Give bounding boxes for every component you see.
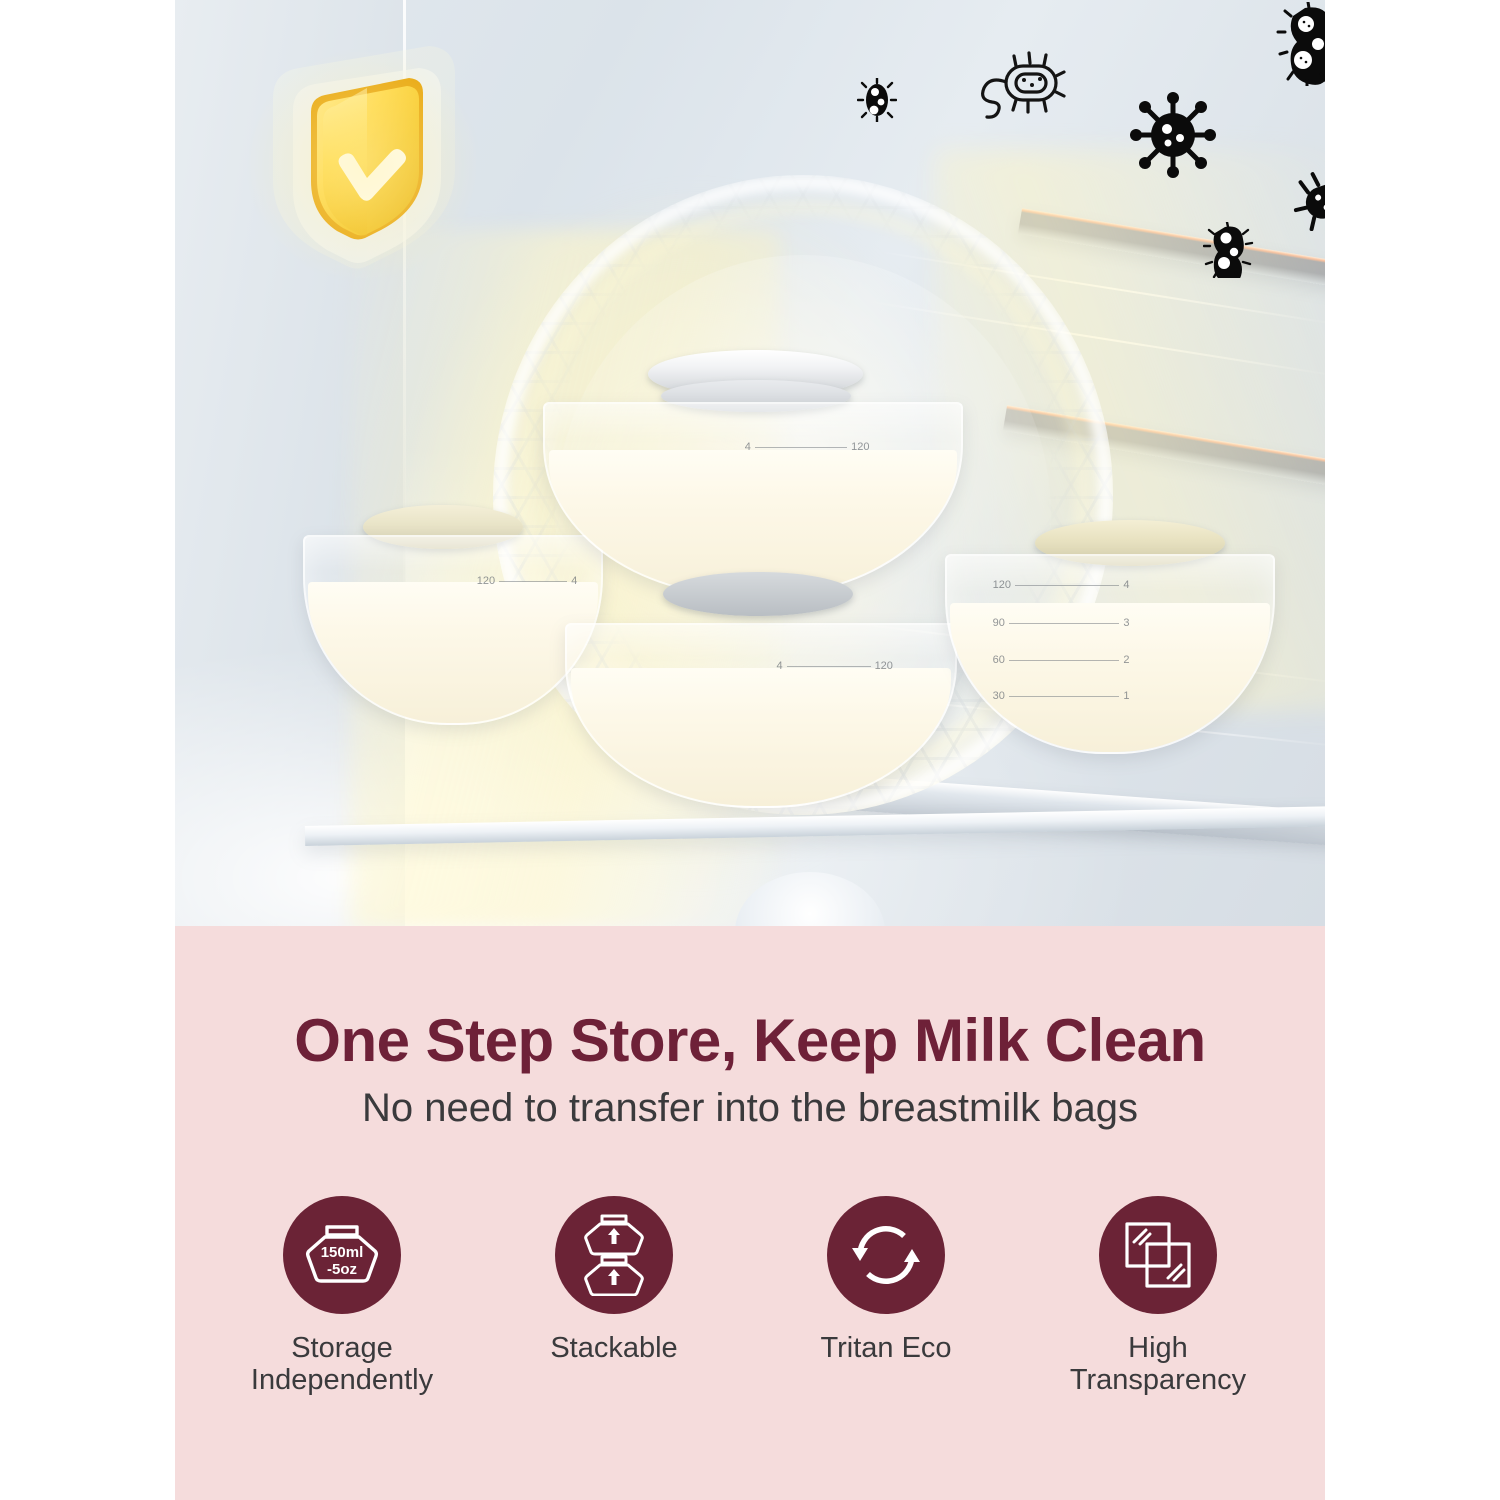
scale-oz-4: 4 [1123, 580, 1129, 591]
hero-fridge-scene: 120 4 4 120 [175, 0, 1325, 926]
germ-bacillus-spiky [1293, 165, 1325, 231]
scale-ml-60: 60 [993, 655, 1005, 666]
page-subtitle: No need to transfer into the breastmilk … [175, 1086, 1325, 1131]
recycle-arrows-icon [848, 1217, 924, 1293]
content-column: 120 4 4 120 [175, 0, 1325, 1500]
measurement-scale: 4 120 [777, 654, 893, 766]
scale-oz-1: 1 [1123, 691, 1129, 702]
container-right: 120 4 90 3 60 2 [945, 520, 1275, 785]
feature-tritan-eco: Tritan Eco [761, 1196, 1011, 1364]
feature-label: High Transparency [1070, 1332, 1246, 1397]
container-base-ring [663, 572, 853, 616]
feature-label: Storage Independently [251, 1332, 433, 1397]
scale-ml-120: 120 [993, 580, 1011, 591]
scale-ml-120: 120 [875, 661, 893, 672]
feature-storage-independently: 150ml -5oz Storage Independently [217, 1196, 467, 1397]
scale-oz-4: 4 [777, 661, 783, 672]
product-marketing-image: 120 4 4 120 [0, 0, 1500, 1500]
feature-high-transparency: High Transparency [1033, 1196, 1283, 1397]
feature-icon-circle [1099, 1196, 1217, 1314]
container-volume-icon: 150ml -5oz [303, 1218, 381, 1292]
container-bowl: 120 4 90 3 60 2 [945, 554, 1275, 754]
scale-ml-120: 120 [851, 442, 869, 453]
scale-oz-3: 3 [1123, 618, 1129, 629]
transparent-panes-icon [1121, 1218, 1195, 1292]
feature-label: Stackable [550, 1332, 677, 1364]
germ-amoeba [1275, 2, 1325, 86]
feature-stackable: Stackable [489, 1196, 739, 1364]
scale-oz-2: 2 [1123, 655, 1129, 666]
shield-check-badge [233, 38, 493, 303]
shield-glow [233, 38, 493, 303]
feature-list: 150ml -5oz Storage Independently [217, 1196, 1283, 1397]
scale-ml-30: 30 [993, 691, 1005, 702]
icon-volume-ml: 150ml [321, 1244, 364, 1261]
page-title: One Step Store, Keep Milk Clean [175, 1006, 1325, 1075]
germ-bacillus-flagellum [970, 48, 1066, 128]
stackable-containers-icon [578, 1214, 650, 1296]
feature-icon-circle: 150ml -5oz [283, 1196, 401, 1314]
germ-amoeba-small [857, 78, 897, 122]
scale-ml-90: 90 [993, 618, 1005, 629]
scale-oz-4: 4 [745, 442, 751, 453]
container-top-center: 4 120 [543, 350, 963, 640]
germ-virus-spiky [1130, 92, 1216, 178]
feature-label: Tritan Eco [820, 1332, 951, 1364]
milk-fill [571, 668, 951, 806]
feature-icon-circle [555, 1196, 673, 1314]
germ-amoeba-small [1203, 222, 1255, 278]
measurement-scale: 4 120 [745, 435, 870, 553]
container-bowl: 4 120 [543, 402, 963, 597]
container-bowl: 4 120 [565, 623, 957, 808]
scale-ml-120: 120 [477, 576, 495, 587]
pink-info-panel: One Step Store, Keep Milk Clean No need … [175, 926, 1325, 1500]
measurement-scale: 120 4 90 3 60 2 [993, 580, 1130, 709]
feature-icon-circle [827, 1196, 945, 1314]
icon-volume-oz: -5oz [327, 1261, 357, 1278]
